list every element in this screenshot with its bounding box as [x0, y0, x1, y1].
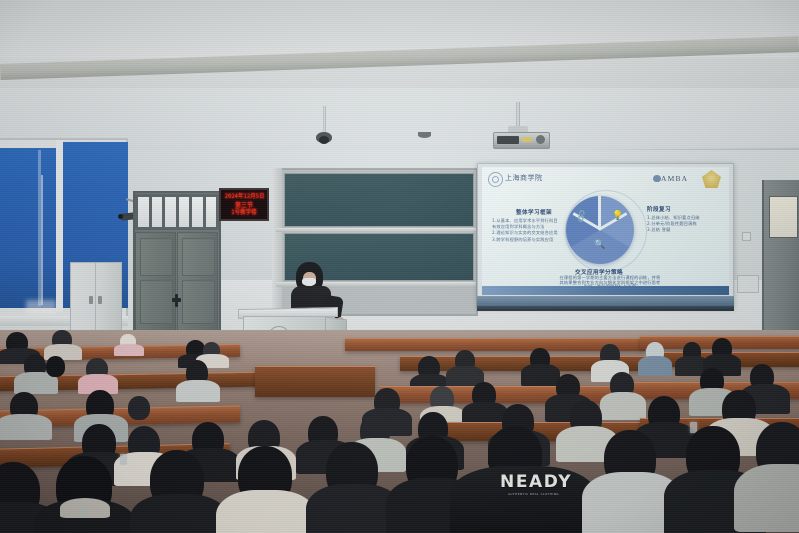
slide-left-heading: 整体学习框架 — [516, 208, 552, 216]
lecture-hall-photo: 2024年12月5日 周四 第三节 1号教学楼 上海商学院 AMBA 🔗 💡 🔍… — [0, 0, 799, 533]
led-line-2: 第三节 — [225, 201, 264, 209]
jacket-brand-text: NEADY — [500, 472, 572, 492]
ceiling-speaker-icon — [418, 132, 431, 138]
window-blind-left[interactable] — [0, 148, 56, 308]
shoulders — [600, 392, 646, 420]
slide-left-line: 3.跨学科视野的培养与实践应用 — [492, 237, 562, 243]
transom-pane — [152, 197, 163, 227]
amba-mark-icon — [653, 175, 661, 182]
university-logo-icon — [488, 172, 503, 187]
jacket-logo — [80, 506, 89, 517]
shoulders — [114, 344, 144, 356]
presenter-face-mask — [302, 278, 316, 286]
shoulders — [216, 490, 316, 533]
door-lock-icon[interactable] — [175, 294, 178, 307]
door-transom — [135, 194, 219, 230]
diagram-divider — [598, 196, 601, 230]
slide-university-name: 上海商学院 — [505, 173, 543, 183]
shoulders — [0, 414, 52, 440]
slide-right-heading: 阶段复习 — [647, 205, 671, 213]
projector-label — [522, 137, 532, 142]
dome-camera-lens-icon — [319, 136, 329, 144]
projector-vent — [497, 136, 519, 144]
slide-left-body: 1.从基本、应用学术水平到行科目 有效应用到学科概念与方法 2.理论知识与实务的… — [492, 218, 562, 243]
door-panel — [182, 238, 215, 276]
shoulders — [521, 364, 560, 386]
cabinet-handle[interactable] — [89, 296, 93, 304]
transom-pane — [165, 197, 176, 227]
led-line-1: 2024年12月5日 周四 — [225, 193, 264, 201]
audience-seating-area — [0, 330, 799, 533]
right-door-window — [769, 196, 798, 238]
led-line-3: 1号教学楼 — [225, 209, 264, 217]
lightbulb-icon: 💡 — [612, 211, 623, 220]
transom-pane — [138, 197, 149, 227]
jacket-brand-subtext: AUTHENTIC REAL CLOTHING — [508, 492, 559, 496]
door-panel — [182, 280, 215, 324]
head — [128, 396, 150, 420]
magnifier-icon: 🔍 — [594, 240, 605, 249]
slide-footer-bar — [482, 286, 729, 295]
desk-row — [255, 366, 375, 397]
slide-right-line: 3.总结 答疑 — [647, 227, 721, 233]
transom-pane — [179, 197, 190, 227]
door-panel — [140, 238, 173, 276]
window-mullion — [56, 140, 63, 312]
window-light-streak-2 — [41, 175, 43, 305]
chalkboard-side-panel-left — [272, 168, 282, 316]
light-switch[interactable] — [742, 232, 751, 241]
screen-bottom-shadow — [477, 306, 734, 311]
projector-lens-icon — [536, 135, 545, 144]
shoulders — [734, 464, 799, 532]
classroom-led-display: 2024年12月5日 周四 第三节 1号教学楼 — [219, 188, 269, 221]
slide-left-line: 2.理论知识与实务的交叉结合应用 — [492, 230, 562, 236]
slide-right-body: 1.总体小结、知识要点归纳 2.分单元/阶段性题目演练 3.总结 答疑 — [647, 215, 721, 234]
window-bottom-glow — [26, 300, 56, 314]
chalkboard-chalk-rail — [276, 228, 476, 232]
security-camera-lens-icon — [118, 214, 123, 219]
phone-screen — [120, 454, 127, 465]
shoulders — [130, 494, 228, 533]
shoulders — [176, 380, 220, 402]
shoulders — [638, 356, 672, 376]
cabinet-handle-2[interactable] — [98, 296, 102, 304]
transom-pane — [192, 197, 203, 227]
head — [46, 356, 65, 377]
door-panel — [140, 280, 173, 324]
amba-accreditation-logo: AMBA — [661, 174, 688, 183]
wall-panel-box[interactable] — [737, 275, 759, 293]
chalkboard-upper[interactable] — [284, 173, 474, 227]
transom-pane — [206, 197, 217, 227]
